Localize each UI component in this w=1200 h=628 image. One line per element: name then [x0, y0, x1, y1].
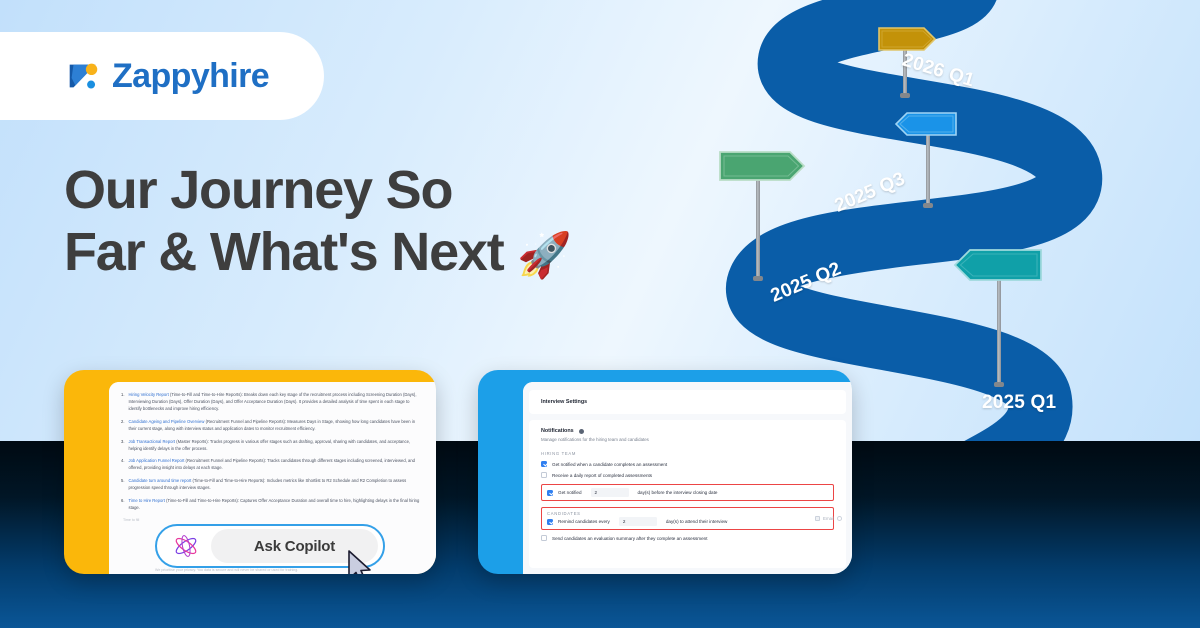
- setting-row-remind-candidates[interactable]: Remind candidates every 2 day(s) to atte…: [547, 517, 828, 526]
- group-label-hiring-team: HIRING TEAM: [541, 451, 834, 456]
- list-item: 2. Candidate Ageing and Pipeline Overvie…: [121, 419, 422, 433]
- list-item: 5. Candidate turn around time report (Ti…: [121, 478, 422, 492]
- report-link[interactable]: Candidate Ageing and Pipeline Overview: [129, 419, 205, 424]
- report-link[interactable]: Hiring Velocity Report: [129, 392, 169, 397]
- setting-label-after: day(s) before the interview closing date: [638, 490, 718, 495]
- setting-row-get-notified-days[interactable]: Get notified 2 day(s) before the intervi…: [547, 488, 828, 497]
- copilot-sparkle-icon: [171, 531, 201, 561]
- highlight-box-get-notified: Get notified 2 day(s) before the intervi…: [541, 484, 834, 501]
- settings-window-title: Interview Settings: [529, 390, 846, 414]
- notifications-header: Notifications: [541, 428, 834, 434]
- faint-text-top: Time to fill: [123, 518, 139, 522]
- radio-secondary-channel[interactable]: [837, 516, 842, 521]
- headline-line-2-wrap: Far & What's Next 🚀: [64, 222, 571, 284]
- zappyhire-z-logo-icon: [64, 57, 102, 95]
- headline-line-1: Our Journey So: [64, 160, 571, 222]
- report-description: (Time-to-Fill and Time-to-Hire Reports):…: [129, 392, 417, 411]
- sign-board-teal: [953, 246, 1043, 284]
- setting-label-before: Get notified: [558, 490, 582, 495]
- checkbox-remind-candidates[interactable]: [547, 519, 553, 525]
- days-before-closing-input[interactable]: 2: [591, 488, 629, 497]
- brand-logo-pill: Zappyhire: [0, 32, 324, 120]
- reports-screenshot-card: 1. Hiring Velocity Report (Time-to-Fill …: [64, 370, 436, 574]
- report-number: 2.: [121, 419, 125, 433]
- sign-board-blue: [894, 110, 958, 138]
- notifications-section: Notifications Manage notifications for t…: [529, 420, 846, 568]
- checkbox-assessment-complete[interactable]: [541, 461, 547, 467]
- report-link[interactable]: Job Application Funnel Report: [129, 458, 185, 463]
- reports-card-inner: 1. Hiring Velocity Report (Time-to-Fill …: [109, 382, 436, 574]
- settings-panel: Interview Settings Notifications Manage …: [523, 382, 852, 574]
- checkbox-email[interactable]: [815, 516, 820, 521]
- report-number: 3.: [121, 439, 125, 453]
- notifications-title: Notifications: [541, 428, 574, 434]
- highlight-box-candidates: CANDIDATES Remind candidates every 2 day…: [541, 507, 834, 530]
- headline-line-2: Far & What's Next: [64, 222, 504, 282]
- setting-label-before: Remind candidates every: [558, 519, 610, 524]
- report-number: 4.: [121, 458, 125, 472]
- rocket-icon: 🚀: [517, 231, 571, 280]
- setting-label: Send candidates an evaluation summary af…: [552, 536, 708, 541]
- setting-label: Receive a daily report of completed asse…: [552, 473, 652, 478]
- checkbox-daily-report[interactable]: [541, 472, 547, 478]
- ask-copilot-button[interactable]: Ask Copilot: [211, 529, 378, 563]
- page-title: Our Journey So Far & What's Next 🚀: [64, 160, 571, 283]
- sign-pole: [997, 280, 1001, 384]
- setting-row-daily-report[interactable]: Receive a daily report of completed asse…: [541, 472, 834, 478]
- setting-label-after: day(s) to attend their interview: [666, 519, 728, 524]
- privacy-disclaimer: We prioritise your privacy. You data is …: [155, 568, 298, 572]
- ask-copilot-bar[interactable]: Ask Copilot: [155, 524, 385, 568]
- report-number: 1.: [121, 392, 125, 413]
- list-item: 1. Hiring Velocity Report (Time-to-Fill …: [121, 392, 422, 413]
- group-label-candidates: CANDIDATES: [547, 511, 828, 516]
- checkbox-evaluation-summary[interactable]: [541, 535, 547, 541]
- sign-pole: [926, 135, 930, 205]
- gear-icon[interactable]: [579, 429, 584, 434]
- brand-name: Zappyhire: [112, 57, 269, 96]
- sign-board-gold: [878, 25, 936, 53]
- sign-pole: [756, 180, 760, 278]
- report-number: 5.: [121, 478, 125, 492]
- notifications-subtitle: Manage notifications for the hiring team…: [541, 437, 834, 442]
- setting-row-evaluation-summary[interactable]: Send candidates an evaluation summary af…: [541, 535, 834, 541]
- poster-canvas: 2026 Q1 2025 Q3 2025 Q2 2025 Q1 Zappyhir…: [0, 0, 1200, 628]
- list-item: 6. Time to Hire Report (Time-to-Fill and…: [121, 498, 422, 512]
- email-channel-toggle[interactable]: Email: [815, 516, 842, 521]
- email-label: Email: [823, 516, 834, 521]
- list-item: 3. Job Transactional Report (Master Repo…: [121, 439, 422, 453]
- settings-card-inner: Interview Settings Notifications Manage …: [523, 382, 852, 574]
- report-number: 6.: [121, 498, 125, 512]
- list-item: 4. Job Application Funnel Report (Recrui…: [121, 458, 422, 472]
- interview-settings-screenshot-card: Interview Settings Notifications Manage …: [478, 370, 852, 574]
- setting-row-assessment-complete[interactable]: Get notified when a candidate completes …: [541, 461, 834, 467]
- remind-every-days-input[interactable]: 2: [619, 517, 657, 526]
- setting-label: Get notified when a candidate completes …: [552, 462, 667, 467]
- milestone-label-2025-q1: 2025 Q1: [982, 392, 1056, 414]
- report-link[interactable]: Candidate turn around time report: [129, 478, 192, 483]
- report-link[interactable]: Time to Hire Report: [129, 498, 165, 503]
- report-description: (Time-to-Fill and Time-to-Hire Reports):…: [129, 498, 420, 510]
- report-link[interactable]: Job Transactional Report: [129, 439, 176, 444]
- sign-board-green: [718, 148, 806, 184]
- checkbox-get-notified-days[interactable]: [547, 490, 553, 496]
